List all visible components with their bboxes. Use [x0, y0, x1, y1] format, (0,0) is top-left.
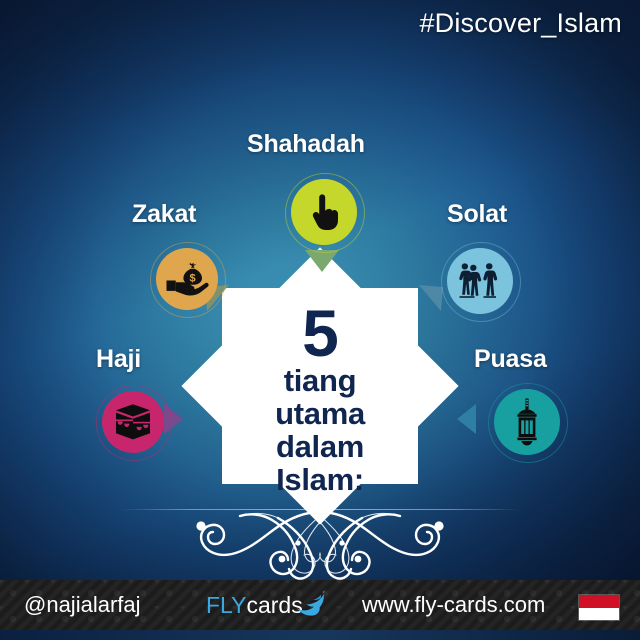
pillar-node-zakat[interactable]: Zakat $ [120, 200, 280, 320]
infographic-canvas: #Discover_Islam 5 tiang utama dalam Isla… [0, 0, 640, 640]
pillar-label-zakat: Zakat [132, 200, 196, 229]
footer-bar: @najialarfaj FLYcards www.fly-cards.com [0, 580, 640, 640]
flag-stripe-white [579, 608, 619, 621]
pillar-circle-zakat[interactable]: $ [156, 248, 218, 310]
pillar-node-puasa[interactable]: Puasa [466, 345, 616, 465]
flycards-logo-cards: cards [246, 592, 302, 618]
pillar-label-solat: Solat [447, 200, 507, 229]
pointing-finger-icon [309, 192, 339, 232]
svg-text:$: $ [190, 273, 196, 285]
hashtag-text: #Discover_Islam [419, 8, 622, 39]
praying-people-icon [458, 262, 502, 300]
indonesia-flag-icon [578, 594, 620, 621]
pillar-circle-haji[interactable] [102, 391, 164, 453]
pillar-node-haji[interactable]: Haji [84, 345, 234, 465]
pillar-node-solat[interactable]: Solat [430, 200, 590, 320]
pillar-circle-shahadah[interactable] [291, 179, 357, 245]
social-handle-text[interactable]: @najialarfaj [24, 592, 141, 618]
footer-base-strip [0, 630, 640, 640]
flycards-logo-fly: FLY [206, 592, 246, 618]
hand-money-bag-icon: $ [165, 262, 209, 296]
bird-icon [296, 590, 330, 616]
pillar-circle-puasa[interactable] [494, 389, 560, 455]
ornamental-flourish [130, 496, 510, 580]
pillar-label-shahadah: Shahadah [247, 130, 365, 159]
flag-stripe-red [579, 595, 619, 608]
kaaba-icon [113, 403, 153, 441]
flycards-logo[interactable]: FLYcards [206, 592, 303, 619]
pillar-label-haji: Haji [96, 345, 141, 374]
website-url-text[interactable]: www.fly-cards.com [362, 592, 545, 618]
lantern-icon [512, 398, 542, 446]
footer-pattern-strip: @najialarfaj FLYcards www.fly-cards.com [0, 580, 640, 630]
pillar-label-puasa: Puasa [474, 345, 547, 374]
pillar-circle-solat[interactable] [447, 248, 513, 314]
